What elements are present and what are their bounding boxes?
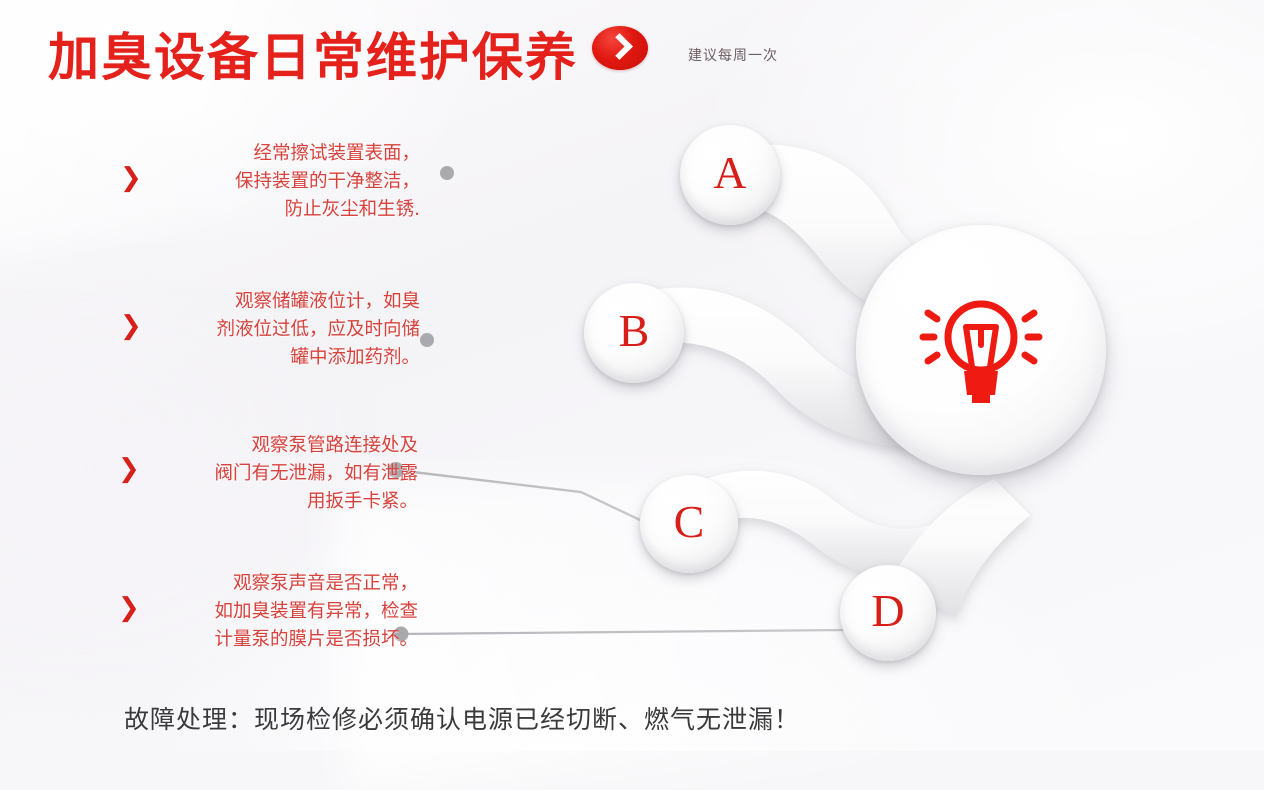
bullet-chevron-icon: ❯ [120, 167, 136, 191]
note-line: 经常擦试装置表面， [136, 140, 420, 168]
note-d: ❯ 观察泵声音是否正常， 如加臭装置有异常，检查 计量泵的膜片是否损坏。 [118, 570, 418, 654]
note-d-text: 观察泵声音是否正常， 如加臭装置有异常，检查 计量泵的膜片是否损坏。 [134, 570, 418, 654]
note-a: ❯ 经常擦试装置表面， 保持装置的干净整洁， 防止灰尘和生锈. [120, 140, 420, 224]
note-line: 观察泵声音是否正常， [134, 570, 418, 598]
note-line: 罐中添加药剂。 [136, 344, 420, 372]
note-line: 观察储罐液位计，如臭 [136, 288, 420, 316]
lightbulb-icon [906, 275, 1056, 425]
node-c[interactable]: C [640, 475, 738, 573]
metaball-diagram: A B C D [560, 95, 1200, 695]
note-b: ❯ 观察储罐液位计，如臭 剂液位过低，应及时向储 罐中添加药剂。 [120, 288, 420, 372]
note-c: ❯ 观察泵管路连接处及 阀门有无泄漏，如有泄露 用扳手卡紧。 [118, 432, 418, 516]
note-line: 防止灰尘和生锈. [136, 196, 420, 224]
node-d[interactable]: D [840, 565, 936, 661]
note-line: 阀门有无泄漏，如有泄露 [134, 460, 418, 488]
note-line: 计量泵的膜片是否损坏。 [134, 626, 418, 654]
note-b-text: 观察储罐液位计，如臭 剂液位过低，应及时向储 罐中添加药剂。 [136, 288, 420, 372]
infographic-canvas: 加臭设备日常维护保养 建议每周一次 [0, 0, 1264, 751]
note-line: 如加臭装置有异常，检查 [134, 598, 418, 626]
bullet-chevron-icon: ❯ [118, 458, 134, 482]
bullet-chevron-icon: ❯ [118, 597, 134, 621]
hub-node[interactable] [856, 225, 1106, 475]
node-b-label: B [619, 308, 650, 354]
node-b[interactable]: B [584, 283, 684, 383]
footer-note: 故障处理：现场检修必须确认电源已经切断、燃气无泄漏！ [124, 700, 800, 736]
node-a-label: A [713, 150, 746, 196]
note-line: 用扳手卡紧。 [134, 488, 418, 516]
bullet-chevron-icon: ❯ [120, 315, 136, 339]
node-a[interactable]: A [680, 125, 780, 225]
note-line: 保持装置的干净整洁， [136, 168, 420, 196]
note-a-text: 经常擦试装置表面， 保持装置的干净整洁， 防止灰尘和生锈. [136, 140, 420, 224]
node-d-label: D [871, 588, 904, 634]
note-line: 剂液位过低，应及时向储 [136, 316, 420, 344]
node-c-label: C [674, 499, 705, 545]
note-c-text: 观察泵管路连接处及 阀门有无泄漏，如有泄露 用扳手卡紧。 [134, 432, 418, 516]
note-line: 观察泵管路连接处及 [134, 432, 418, 460]
